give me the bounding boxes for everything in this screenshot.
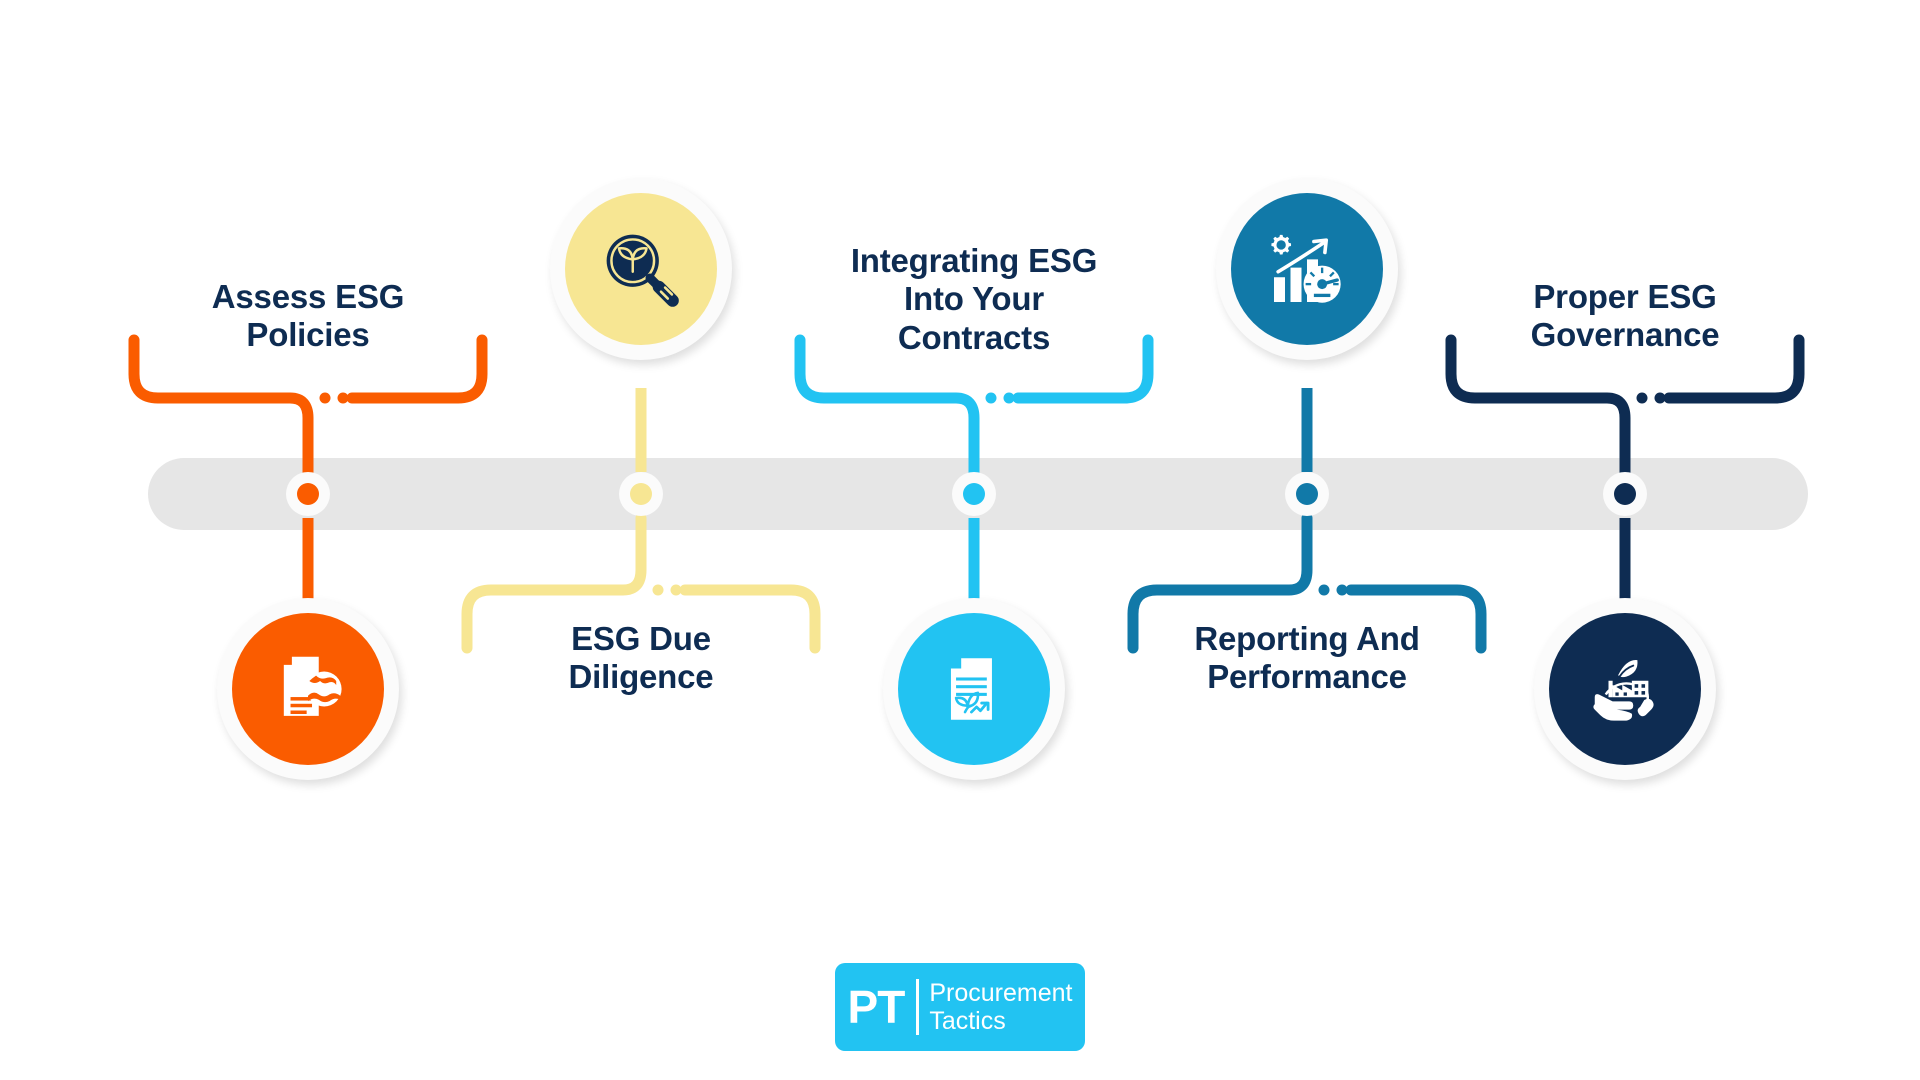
icon-bubble-proper-esg-governance[interactable] <box>1534 598 1716 780</box>
icon-bubble-esg-due-diligence[interactable] <box>550 178 732 360</box>
step-label-esg-due-diligence: ESG Due Diligence <box>461 620 821 697</box>
node-core <box>1614 483 1636 505</box>
step-label-integrating-esg-into-your-contracts: Integrating ESG Into Your Contracts <box>794 242 1154 357</box>
connector-layer <box>0 0 1920 1080</box>
icon-bubble-fill <box>898 613 1050 765</box>
contract-leaf-growth-icon <box>933 648 1015 730</box>
procurement-tactics-logo[interactable]: PT Procurement Tactics <box>835 963 1085 1051</box>
logo-divider <box>916 979 919 1035</box>
timeline-node-assess-esg-policies[interactable] <box>286 472 330 516</box>
logo-word-line-1: Procurement <box>929 979 1072 1007</box>
node-core <box>963 483 985 505</box>
icon-bubble-assess-esg-policies[interactable] <box>217 598 399 780</box>
logo-monogram: PT <box>848 980 917 1034</box>
icon-bubble-fill <box>1231 193 1383 345</box>
timeline-node-integrating-esg-into-your-contracts[interactable] <box>952 472 996 516</box>
label-line: Integrating ESG <box>794 242 1154 280</box>
label-line: Governance <box>1445 316 1805 354</box>
label-line: Proper ESG <box>1445 278 1805 316</box>
timeline-node-esg-due-diligence[interactable] <box>619 472 663 516</box>
label-line: Reporting And <box>1127 620 1487 658</box>
document-globe-icon <box>265 646 351 732</box>
label-line: Performance <box>1127 658 1487 696</box>
step-label-proper-esg-governance: Proper ESG Governance <box>1445 278 1805 355</box>
node-core <box>630 483 652 505</box>
label-line: Into Your <box>794 280 1154 318</box>
label-line: ESG Due <box>461 620 821 658</box>
label-line: Contracts <box>794 319 1154 357</box>
step-label-assess-esg-policies: Assess ESG Policies <box>128 278 488 355</box>
magnifier-sprout-icon <box>597 225 685 313</box>
icon-bubble-fill <box>1549 613 1701 765</box>
infographic-canvas: Assess ESG Policies <box>0 0 1920 1080</box>
label-line: Policies <box>128 316 488 354</box>
node-core <box>1296 483 1318 505</box>
icon-bubble-fill <box>232 613 384 765</box>
icon-bubble-integrating-esg-into-your-contracts[interactable] <box>883 598 1065 780</box>
node-core <box>297 483 319 505</box>
label-line: Diligence <box>461 658 821 696</box>
timeline-node-proper-esg-governance[interactable] <box>1603 472 1647 516</box>
logo-word-line-2: Tactics <box>929 1007 1072 1035</box>
label-line: Assess ESG <box>128 278 488 316</box>
icon-bubble-fill <box>565 193 717 345</box>
logo-wordmark: Procurement Tactics <box>929 979 1072 1035</box>
bar-chart-gear-gauge-icon <box>1263 225 1351 313</box>
hand-factory-leaf-icon <box>1581 645 1669 733</box>
icon-bubble-reporting-and-performance[interactable] <box>1216 178 1398 360</box>
step-label-reporting-and-performance: Reporting And Performance <box>1127 620 1487 697</box>
timeline-node-reporting-and-performance[interactable] <box>1285 472 1329 516</box>
